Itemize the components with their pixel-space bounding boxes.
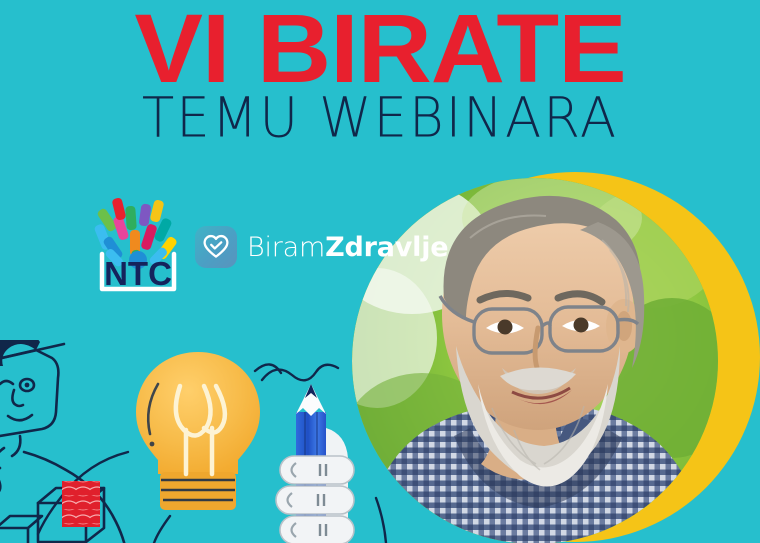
light-bulb-icon xyxy=(128,348,268,523)
zdravlje-word: Zdravlje xyxy=(325,232,448,263)
ntc-logo: NTC xyxy=(88,190,188,294)
headline-primary: VI BIRATE xyxy=(0,2,760,96)
heart-check-icon xyxy=(195,226,237,268)
ntc-acronym-text: NTC xyxy=(104,255,172,292)
webinar-promo-poster: VI BIRATE TEMU WEBINARA NTC xyxy=(0,0,760,543)
biram-zdravlje-logo: BiramZdravlje xyxy=(195,225,448,269)
biram-word: Biram xyxy=(247,232,325,263)
biram-zdravlje-wordmark: BiramZdravlje xyxy=(247,234,448,261)
headline-block: VI BIRATE TEMU WEBINARA xyxy=(0,0,760,145)
wireframe-cube-accent-square xyxy=(62,481,100,527)
headline-secondary: TEMU WEBINARA xyxy=(0,91,760,146)
